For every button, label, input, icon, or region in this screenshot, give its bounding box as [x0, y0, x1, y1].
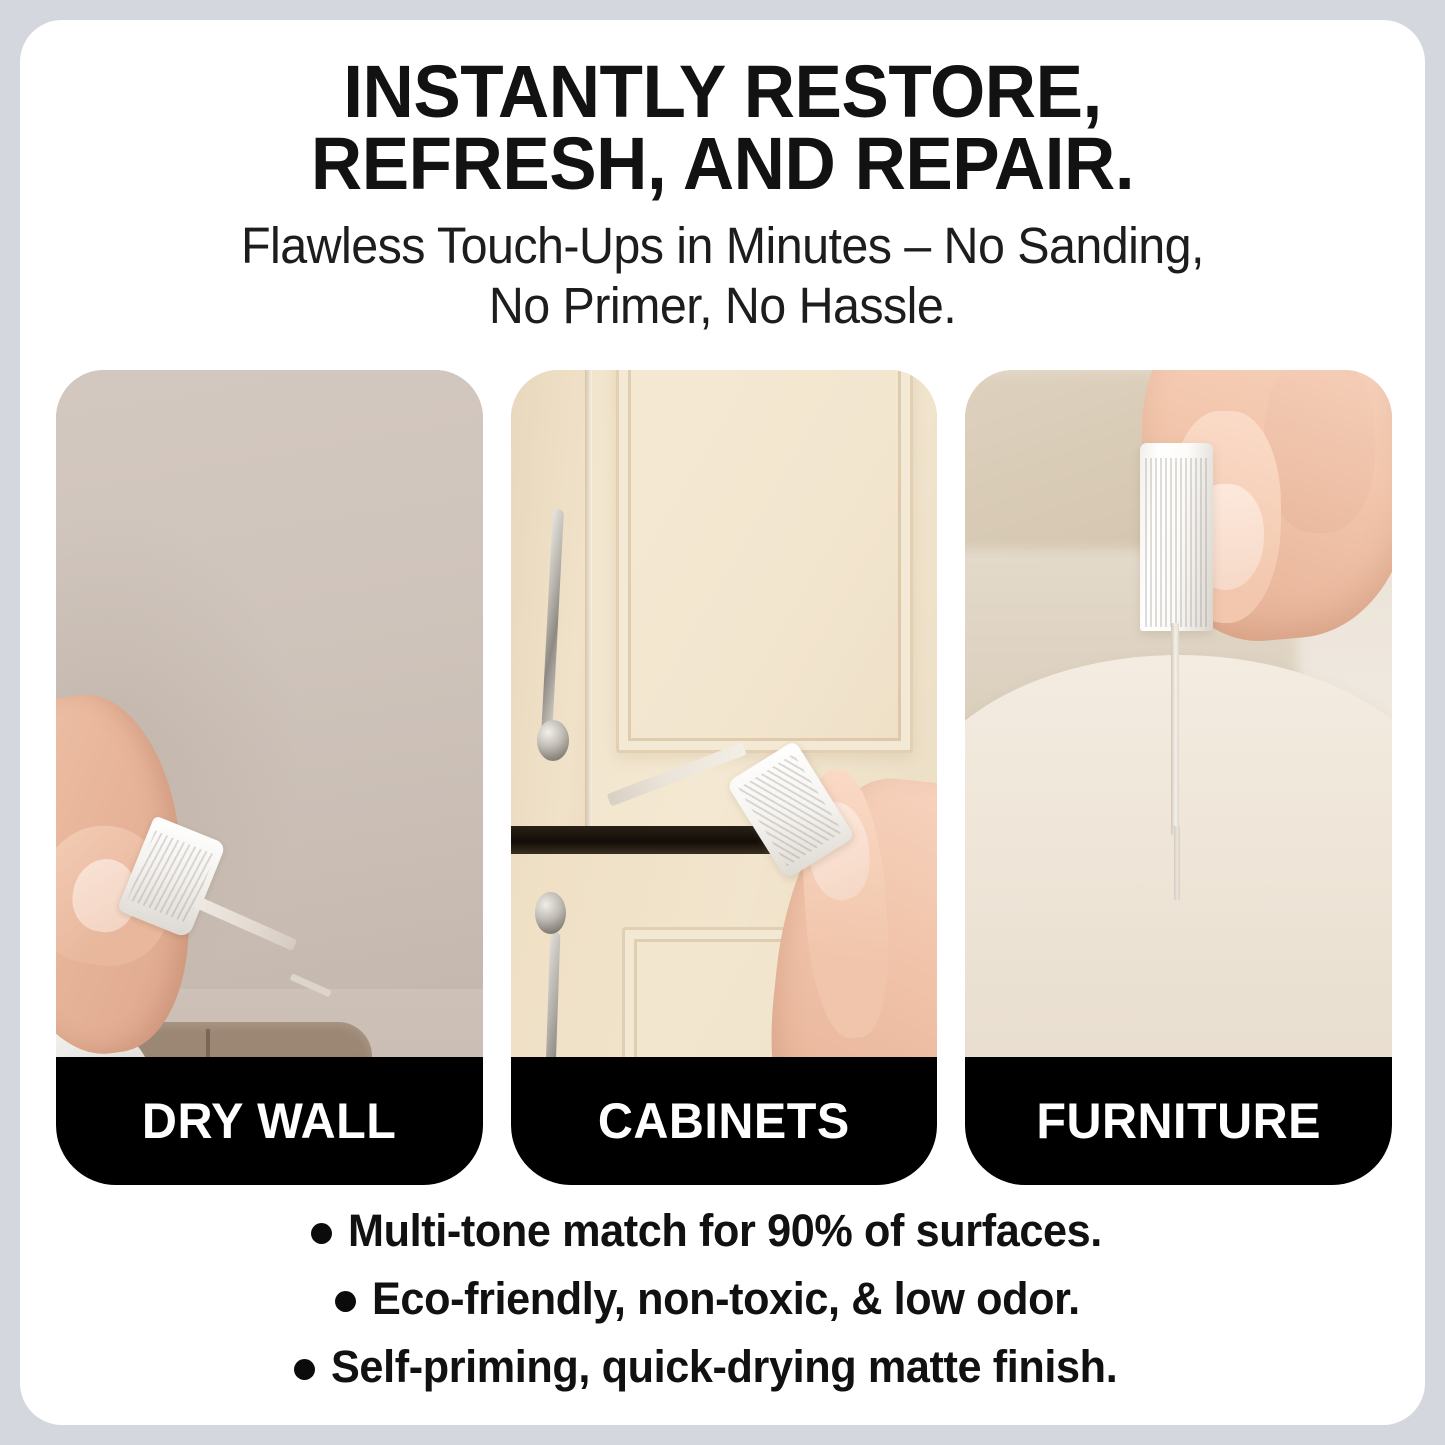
feature-bullet-list: Multi-tone match for 90% of surfaces. Ec… — [20, 1205, 1425, 1393]
panel-label-banner-cabinets: CABINETS — [511, 1057, 938, 1185]
page-subtitle: Flawless Touch-Ups in Minutes – No Sandi… — [55, 216, 1390, 336]
headline-line-2: REFRESH, AND REPAIR. — [48, 128, 1397, 200]
upper-door-raised-panel — [616, 370, 913, 753]
applicator-cap — [1140, 443, 1213, 630]
use-case-panel-cabinets: CABINETS — [511, 370, 938, 1185]
panel-label-banner-dry-wall: DRY WALL — [56, 1057, 483, 1185]
use-case-panel-dry-wall: DRY WALL — [56, 370, 483, 1185]
applicator-tip — [1174, 826, 1179, 899]
bullet-dot-icon — [294, 1359, 315, 1380]
subhead-line-2: No Primer, No Hassle. — [489, 277, 956, 334]
use-case-panel-group: DRY WALL — [56, 370, 1392, 1185]
applicator-needle — [1171, 623, 1179, 835]
lower-cabinet-knob — [535, 892, 566, 934]
panel-label-furniture: FURNITURE — [1036, 1092, 1321, 1150]
bullet-text: Multi-tone match for 90% of surfaces. — [348, 1205, 1102, 1257]
use-case-panel-furniture: FURNITURE — [965, 370, 1392, 1185]
list-item: Eco-friendly, non-toxic, & low odor. — [335, 1273, 1109, 1325]
bullet-text: Eco-friendly, non-toxic, & low odor. — [372, 1273, 1080, 1325]
headline-line-1: INSTANTLY RESTORE, — [343, 50, 1101, 133]
list-item: Self-priming, quick-drying matte finish. — [294, 1341, 1150, 1393]
panel-label-dry-wall: DRY WALL — [142, 1092, 396, 1150]
bullet-dot-icon — [335, 1291, 356, 1312]
list-item: Multi-tone match for 90% of surfaces. — [311, 1205, 1133, 1257]
panel-label-banner-furniture: FURNITURE — [965, 1057, 1392, 1185]
page-title: INSTANTLY RESTORE, REFRESH, AND REPAIR. — [48, 56, 1397, 200]
bullet-text: Self-priming, quick-drying matte finish. — [331, 1341, 1117, 1393]
product-infographic-card: INSTANTLY RESTORE, REFRESH, AND REPAIR. … — [20, 20, 1425, 1425]
subhead-line-1: Flawless Touch-Ups in Minutes – No Sandi… — [241, 217, 1204, 274]
bullet-dot-icon — [311, 1223, 332, 1244]
panel-label-cabinets: CABINETS — [598, 1092, 850, 1150]
